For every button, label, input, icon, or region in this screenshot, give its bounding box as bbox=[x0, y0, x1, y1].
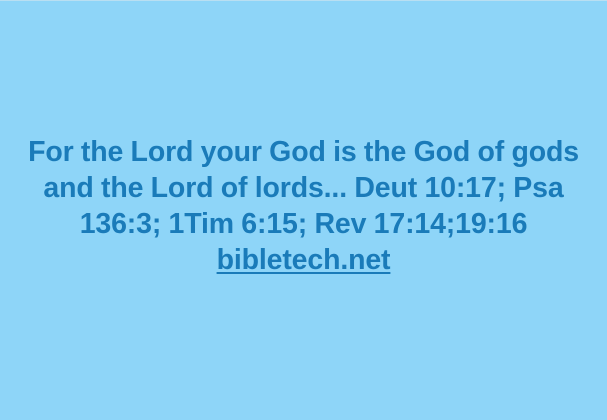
bibletech-link[interactable]: bibletech.net bbox=[217, 244, 391, 276]
verse-paragraph: For the Lord your God is the God of gods… bbox=[24, 134, 584, 278]
verse-block: For the Lord your God is the God of gods… bbox=[0, 0, 607, 420]
verse-slide: For the Lord your God is the God of gods… bbox=[0, 0, 607, 420]
